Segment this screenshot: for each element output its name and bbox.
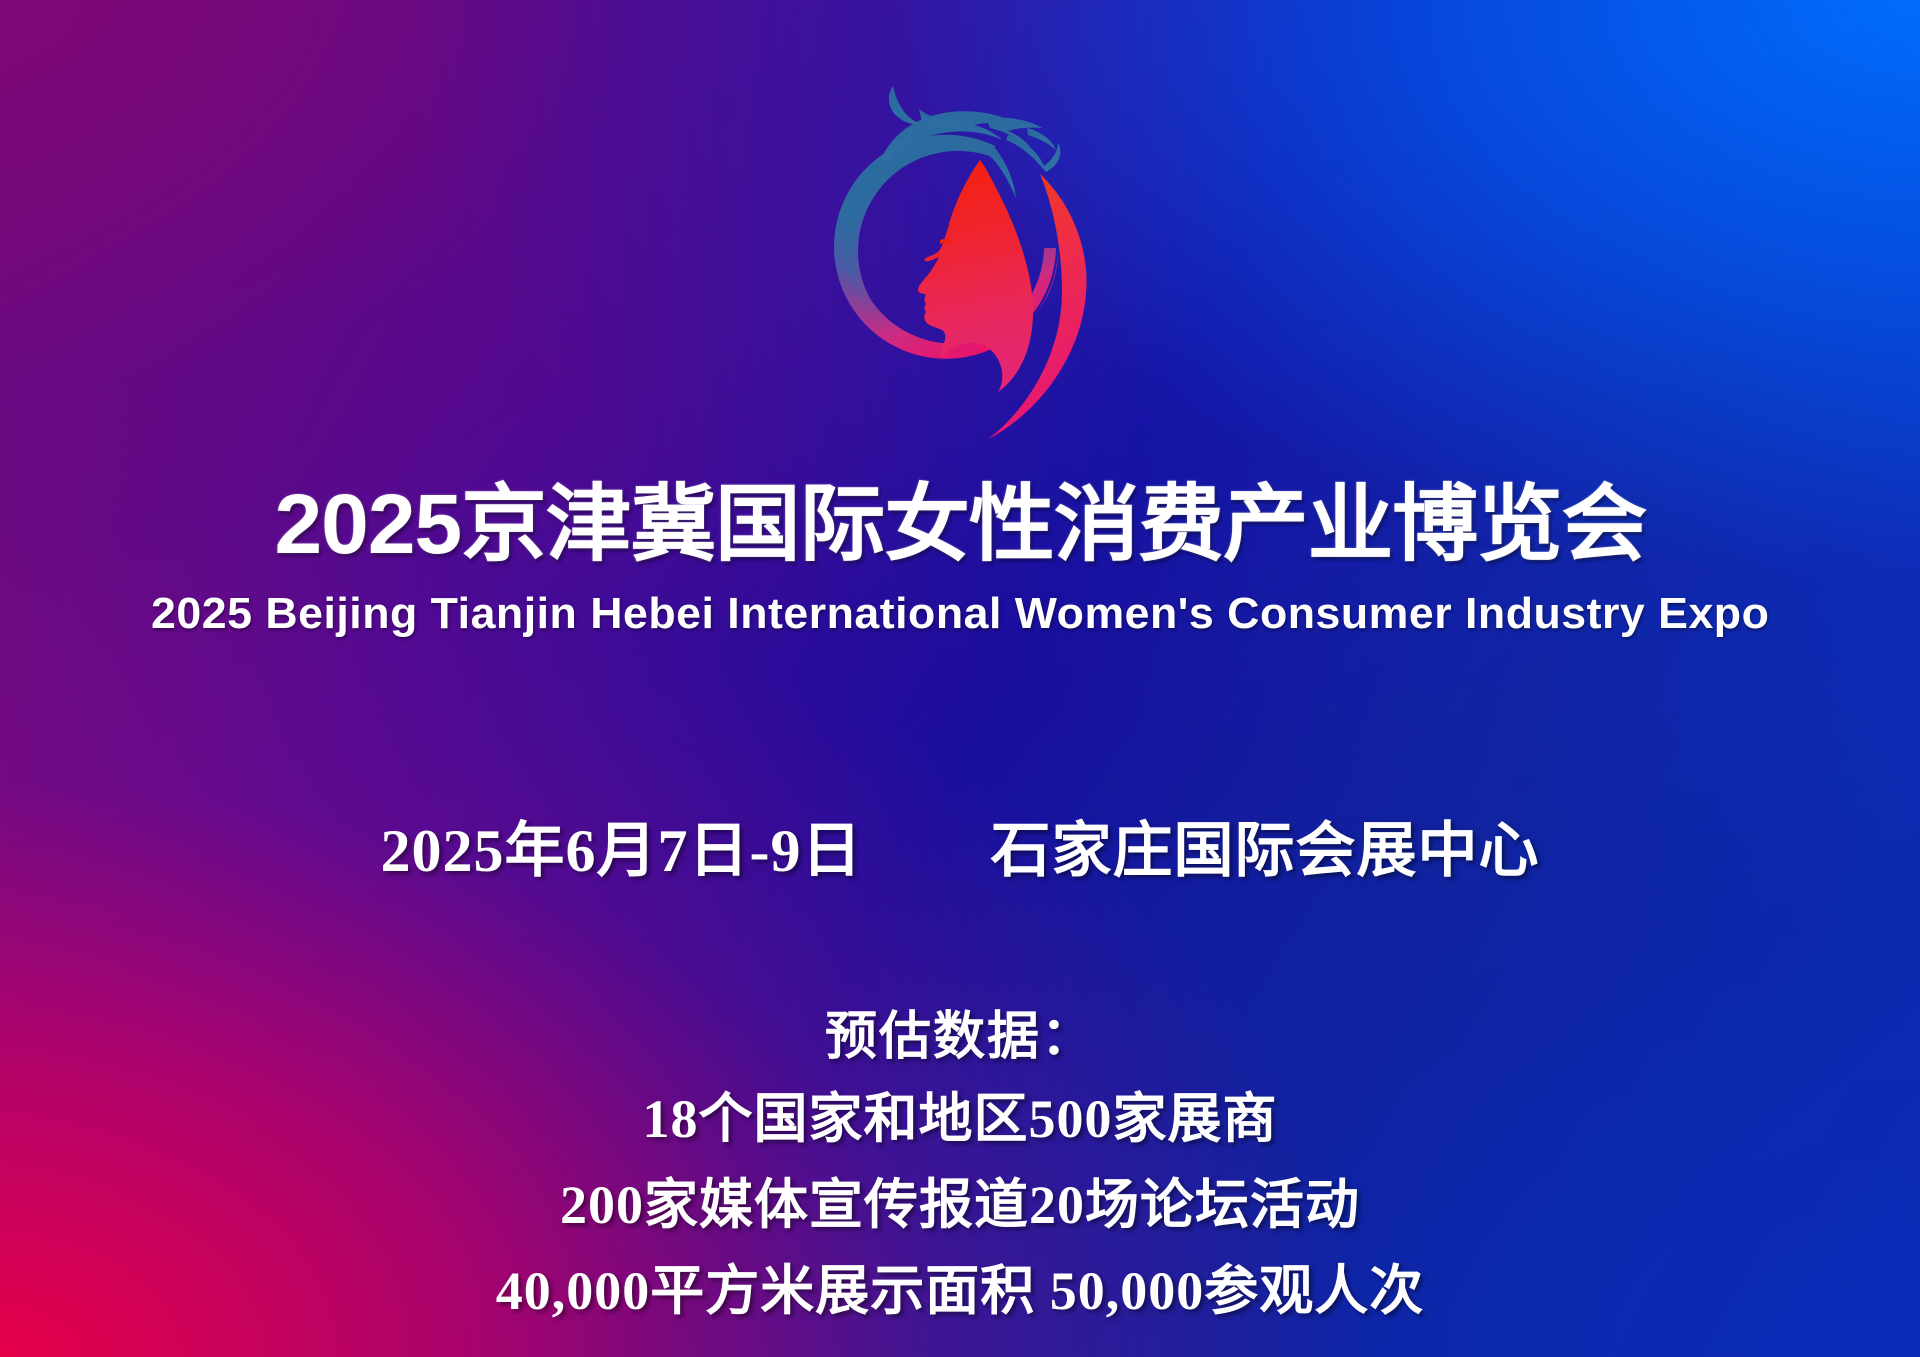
event-date: 2025年6月7日-9日: [381, 812, 863, 890]
event-venue: 石家庄国际会展中心: [990, 812, 1539, 890]
women-expo-dragon-logo: [790, 62, 1130, 462]
page-title-chinese: 2025京津冀国际女性消费产业博览会: [274, 476, 1646, 572]
page-title-english: 2025 Beijing Tianjin Hebei International…: [151, 588, 1769, 640]
stats-line-media-forums: 200家媒体宣传报道20场论坛活动: [0, 1162, 1920, 1248]
estimated-stats-block: 预估数据： 18个国家和地区500家展商 200家媒体宣传报道20场论坛活动 4…: [0, 1000, 1920, 1334]
stats-line-exhibitors: 18个国家和地区500家展商: [0, 1076, 1920, 1162]
expo-poster: 2025京津冀国际女性消费产业博览会 2025 Beijing Tianjin …: [0, 0, 1920, 1357]
date-venue-row: 2025年6月7日-9日石家庄国际会展中心: [0, 812, 1920, 890]
title-english-row: 2025 Beijing Tianjin Hebei International…: [0, 588, 1920, 640]
title-chinese-row: 2025京津冀国际女性消费产业博览会: [0, 476, 1920, 572]
stats-line-area-visitors: 40,000平方米展示面积 50,000参观人次: [0, 1248, 1920, 1334]
stats-heading: 预估数据：: [0, 1000, 1920, 1076]
